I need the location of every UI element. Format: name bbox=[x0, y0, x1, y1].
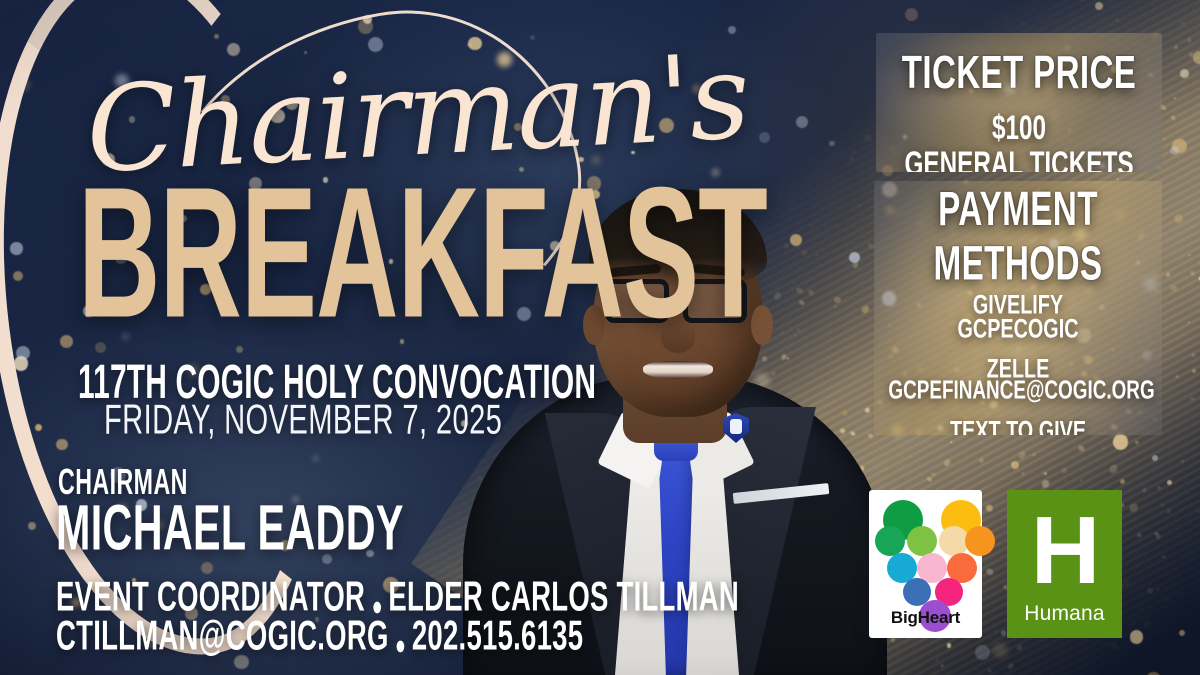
coordinator-phone[interactable]: 202.515.6135 bbox=[412, 612, 583, 659]
ticket-price-panel: TICKET PRICE $100 GENERAL TICKETS bbox=[876, 33, 1162, 172]
bullet-separator-icon bbox=[389, 615, 412, 663]
ticket-price-kind: GENERAL TICKETS bbox=[890, 145, 1147, 172]
payment-method-value: GCPECOGIC bbox=[888, 314, 1147, 343]
coordinator-email[interactable]: CTILLMAN@COGIC.ORG bbox=[56, 612, 389, 659]
bigheart-logo-label: BigHeart bbox=[869, 608, 982, 628]
title-block-word: BREAKFAST bbox=[78, 168, 767, 339]
event-date-line: FRIDAY, NOVEMBER 7, 2025 bbox=[104, 398, 502, 440]
payment-method-value: GCPEFINANCE@COGIC.ORG bbox=[888, 378, 1147, 406]
payment-method-zelle: ZELLE GCPEFINANCE@COGIC.ORG bbox=[874, 357, 1162, 403]
payment-methods-panel: PAYMENT METHODS GIVELIFY GCPECOGIC ZELLE… bbox=[874, 181, 1162, 435]
payment-methods-title: PAYMENT METHODS bbox=[888, 181, 1147, 291]
bigheart-logo[interactable]: BigHeart bbox=[869, 490, 982, 638]
chairman-name: MICHAEL EADDY bbox=[56, 492, 404, 566]
humana-logo[interactable]: H Humana bbox=[1007, 490, 1122, 638]
humana-logo-label: Humana bbox=[1007, 602, 1122, 626]
payment-method-name: TEXT TO GIVE bbox=[888, 416, 1147, 435]
payment-method-givelify: GIVELIFY GCPECOGIC bbox=[874, 293, 1162, 341]
humana-h-icon: H bbox=[1007, 504, 1122, 598]
ticket-price-title: TICKET PRICE bbox=[887, 33, 1150, 100]
coordinator-contact-line: CTILLMAN@COGIC.ORG202.515.6135 bbox=[56, 612, 583, 663]
payment-method-text-to-give: TEXT TO GIVE TEXT GCPE TO 28950 bbox=[874, 419, 1162, 435]
event-flyer: Chairman's BREAKFAST 117TH COGIC HOLY CO… bbox=[0, 0, 1200, 675]
ticket-price-amount: $100 bbox=[890, 109, 1147, 148]
